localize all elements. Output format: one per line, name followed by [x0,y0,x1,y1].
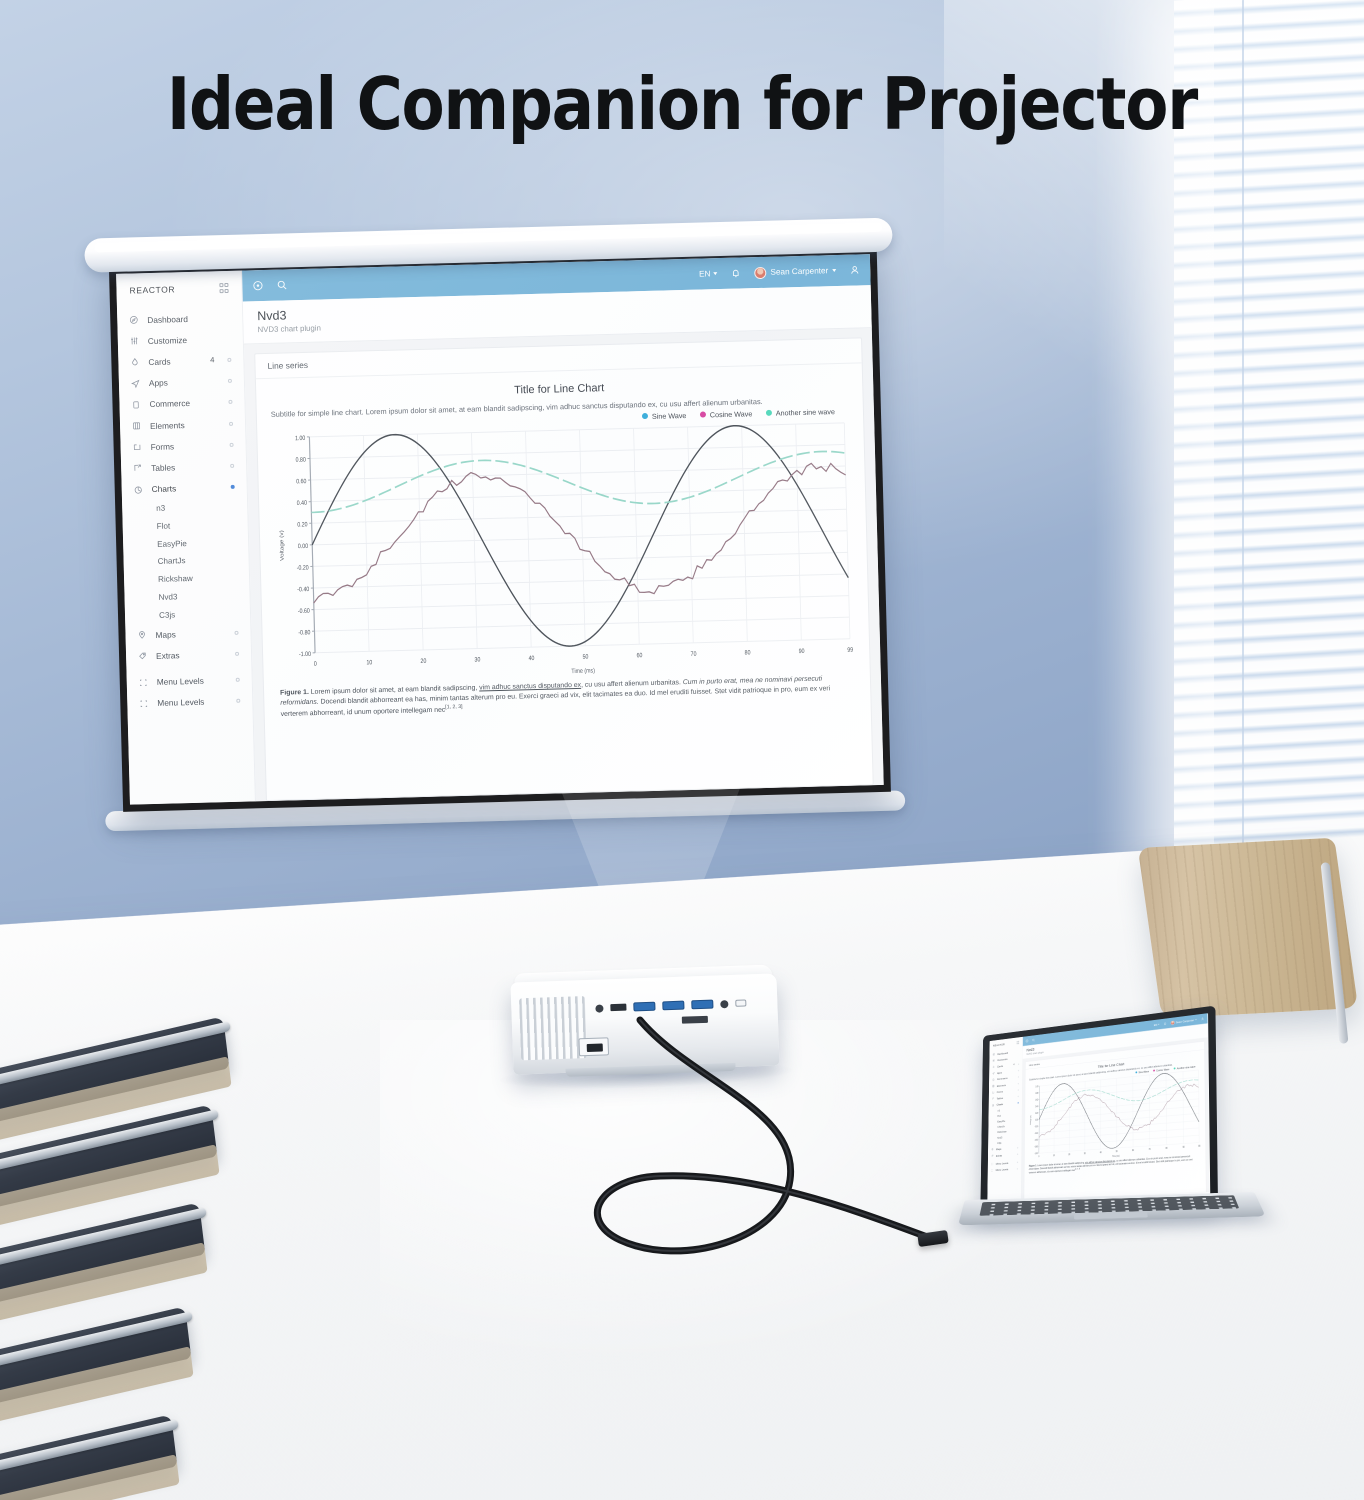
sidebar-subitem-label: Rickshaw [997,1130,1006,1133]
svg-text:0.00: 0.00 [1035,1119,1038,1121]
projection-screen: REACTOR Dashboard Customize Cards [84,218,908,849]
svg-text:-0.20: -0.20 [297,565,310,572]
svg-text:40: 40 [1100,1152,1102,1154]
status-dot [1018,1076,1019,1077]
user-icon[interactable] [1201,1017,1205,1021]
sidebar-item-label: Menu Levels [157,696,227,708]
status-dot [228,379,232,383]
user-menu[interactable]: Sean Carpenter [1171,1018,1197,1025]
legend-item-sine[interactable]: Sine Wave [642,411,686,421]
legend-label: Another sine wave [776,407,835,418]
status-dot [227,358,231,362]
table-icon [992,1097,994,1100]
user-icon[interactable] [849,264,860,275]
status-dot [236,678,240,682]
vga-port [691,1000,713,1010]
line-chart-plot[interactable]: 1.000.800.600.400.200.00-0.20-0.40-0.60-… [271,417,855,684]
sidebar: REACTOR Dashboard Customize Cards [987,1037,1023,1202]
grid-icon[interactable] [1017,1041,1020,1044]
status-dot [235,652,239,656]
status-dot [1017,1154,1018,1155]
sidebar-item-label: Tables [151,461,221,473]
sidebar-item-menu-levels-2[interactable]: Menu Levels [127,690,253,714]
vga-port [662,1001,684,1011]
svg-text:0.60: 0.60 [296,479,307,486]
compass-icon [993,1053,995,1056]
svg-text:10: 10 [1053,1155,1055,1157]
table-icon [133,464,142,473]
sidebar-subitem-label: Rickshaw [158,574,193,584]
sidebar-subitem-label: EasyPie [157,539,187,549]
caption-text-2: , cu usu affert alienum urbanitas. [581,679,683,689]
active-dot [231,485,235,489]
sidebar-item-label: Menu Levels [996,1168,1015,1172]
send-icon [992,1072,994,1075]
svg-text:30: 30 [474,657,481,664]
projector-port-bank [595,998,746,1012]
svg-text:60: 60 [637,653,644,660]
main-column: EN Sean Carpenter [242,254,884,801]
svg-text:0.60: 0.60 [1035,1099,1038,1101]
language-label: EN [699,269,711,278]
svideo-port [720,1000,728,1008]
svg-text:50: 50 [582,654,589,661]
reactor-dashboard: REACTOR Dashboard Customize Cards [116,254,884,805]
svg-text:90: 90 [799,649,806,656]
projector-body [510,973,779,1074]
svg-text:80: 80 [745,650,752,657]
sidebar-subitem-label: Nvd3 [997,1136,1002,1139]
topbar-left [252,279,287,291]
user-name: Sean Carpenter [1176,1019,1194,1024]
chevron-down-icon [832,269,836,272]
tag-icon [991,1155,993,1158]
dots-frame-icon [991,1169,993,1172]
bag-icon [992,1078,994,1081]
dots-frame-icon [139,699,148,708]
sidebar-subitem-label: Flot [157,521,171,530]
card-body: Title for Line Chart Subtitle for simple… [1024,1050,1205,1178]
sidebar-item-label: Commerce [149,398,219,410]
sidebar-subitem-label: Nvd3 [158,592,177,601]
send-icon [131,379,140,388]
status-dot [230,443,234,447]
sidebar-subitem-label: C3js [159,610,175,619]
vga-port [633,1002,655,1012]
svg-text:-1.00: -1.00 [299,651,312,658]
main-column: EN Sean Carpenter [1021,1013,1210,1200]
form-icon [133,442,142,451]
line-chart-plot[interactable]: 1.000.800.600.400.200.00-0.20-0.40-0.60-… [1028,1068,1201,1163]
grid-squares-icon [132,421,141,430]
audio-port [595,1004,603,1012]
svg-text:Voltage (v): Voltage (v) [1030,1115,1032,1125]
target-icon[interactable] [1026,1039,1029,1043]
topbar-left [1026,1038,1035,1043]
svg-text:-0.40: -0.40 [297,587,310,594]
chevron-down-icon [713,272,717,275]
sidebar-item-menu-levels-2[interactable]: Menu Levels [988,1165,1022,1174]
bell-icon[interactable] [1163,1022,1166,1026]
svg-text:0.40: 0.40 [1035,1106,1038,1108]
svg-text:80: 80 [1166,1148,1168,1150]
status-dot [1018,1064,1019,1065]
search-icon[interactable] [276,279,287,290]
chevron-down-icon [1195,1019,1196,1020]
compass-icon [129,315,138,324]
user-name: Sean Carpenter [770,266,828,277]
pie-chart-icon [134,485,143,494]
cards-badge: 4 [1013,1063,1014,1066]
map-pin-icon [137,630,146,639]
sidebar-subitem-label: C3js [997,1142,1001,1145]
reactor-dashboard: REACTOR Dashboard Customize Cards [987,1013,1209,1201]
caption-underlined: vim adhuc sanctus disputando ex [479,682,581,692]
search-icon[interactable] [1032,1038,1035,1042]
sidebar-brand-row: REACTOR [116,280,242,310]
status-dot [1018,1083,1019,1084]
status-dot [1017,1147,1018,1148]
sidebar-item-label: Customize [148,334,231,346]
caption-references: [1, 2, 3] [445,704,462,710]
caption-label: Figure 1. [280,689,309,697]
legend-label: Sine Wave [652,411,687,421]
svg-text:90: 90 [1183,1147,1185,1149]
svg-text:-0.60: -0.60 [1035,1140,1038,1142]
status-dot [1018,1089,1019,1090]
legend-item-another-sine[interactable]: Another sine wave [766,407,835,418]
droplet-icon [130,358,139,367]
svg-text:70: 70 [1149,1149,1151,1151]
svg-text:Voltage (v): Voltage (v) [279,530,285,561]
laptop-screen: REACTOR Dashboard Customize Cards [987,1013,1210,1205]
sidebar-subitem-label: n3 [156,504,165,513]
poster-scene: Ideal Companion for Projector REACTOR Da… [0,0,1364,1500]
target-icon[interactable] [252,280,263,291]
svg-text:0.00: 0.00 [298,544,309,551]
sidebar-item-label: Charts [152,482,222,494]
svg-text:0.80: 0.80 [296,457,307,464]
legend-label: Cosine Wave [710,409,753,419]
card-body: Title for Line Chart Subtitle for simple… [256,363,871,729]
sidebar: REACTOR Dashboard Customize Cards [116,271,256,805]
sidebar-item-label: Cards [148,356,201,367]
svg-text:Time (ms): Time (ms) [571,668,595,675]
status-dot [230,464,234,468]
svg-text:10: 10 [366,660,373,667]
sidebar-subitem-label: n3 [998,1109,1000,1112]
avatar [1171,1021,1175,1025]
svg-text:0.20: 0.20 [1035,1113,1038,1115]
brand-name: REACTOR [129,284,175,295]
svg-text:-0.80: -0.80 [1034,1146,1037,1148]
sidebar-item-label: Elements [150,419,220,431]
status-dot [1018,1096,1019,1097]
svg-text:50: 50 [1116,1151,1118,1153]
svg-text:60: 60 [1132,1150,1134,1152]
sidebar-subitem-label: ChartJs [158,557,186,567]
usb-port [735,999,746,1006]
sidebar-item-label: Maps [996,1146,1015,1150]
dots-frame-icon [139,678,148,687]
sidebar-item-label: Forms [150,440,220,452]
content-area: Line series Title for Line Chart Subtitl… [244,328,884,801]
trackpad[interactable] [1074,1212,1148,1219]
serial-port [682,1016,708,1024]
svg-text:1.00: 1.00 [1036,1086,1039,1088]
svg-text:0.80: 0.80 [1035,1093,1038,1095]
topbar-right: EN Sean Carpenter [699,264,860,280]
content-area: Line series Title for Line Chart Subtitl… [1021,1038,1210,1201]
laptop-screen-content: REACTOR Dashboard Customize Cards [987,1013,1209,1201]
svg-text:40: 40 [528,656,535,663]
language-selector[interactable]: EN [1154,1023,1160,1027]
sidebar-item-label: Apps [149,376,219,388]
svg-text:0.20: 0.20 [297,522,308,529]
sidebar-item-label: Dashboard [147,312,230,324]
svg-text:-0.80: -0.80 [298,630,311,637]
legend-color-swatch [642,413,648,419]
projector [510,973,779,1074]
chart-card: Line series Title for Line Chart Subtitl… [254,337,874,801]
svg-text:-0.40: -0.40 [1035,1133,1038,1135]
droplet-icon [992,1066,994,1069]
office-chair [0,1306,191,1425]
sidebar-subitem-label: EasyPie [997,1119,1005,1122]
legend-color-swatch [766,410,772,416]
svg-text:99: 99 [847,647,853,654]
svg-text:30: 30 [1084,1153,1086,1155]
svg-text:20: 20 [1068,1154,1070,1156]
tag-icon [138,652,147,661]
sidebar-subitem-label: ChartJs [997,1125,1004,1128]
sidebar-item-label: Menu Levels [157,675,227,687]
svg-text:20: 20 [420,658,427,665]
dots-frame-icon [991,1163,993,1166]
status-dot [234,631,238,635]
power-inlet [578,1037,609,1056]
sidebar-subitem-label: Flot [997,1114,1001,1117]
sliders-icon [992,1059,994,1062]
map-pin-icon [991,1148,993,1151]
laptop-lid: REACTOR Dashboard Customize Cards [980,1006,1218,1214]
svg-text:1.00: 1.00 [295,436,306,443]
status-dot [1018,1070,1019,1071]
svg-text:99: 99 [1198,1146,1200,1148]
chevron-down-icon [1158,1024,1159,1025]
sidebar-item-label: Maps [155,628,225,640]
language-selector[interactable]: EN [699,269,718,278]
status-dot [228,400,232,404]
active-dot [1018,1102,1019,1103]
grid-icon[interactable] [219,283,229,293]
legend-color-swatch [700,412,706,418]
cards-badge: 4 [210,356,214,365]
brand-name: REACTOR [993,1043,1005,1047]
status-dot [236,699,240,703]
form-icon [992,1091,994,1094]
status-dot [1017,1162,1018,1163]
user-menu[interactable]: Sean Carpenter [754,265,836,279]
svg-text:70: 70 [691,651,698,658]
legend-item-cosine[interactable]: Cosine Wave [700,409,752,419]
svg-text:-1.00: -1.00 [1034,1153,1037,1155]
svg-text:-0.20: -0.20 [1035,1126,1038,1128]
hdmi-port [610,1004,626,1012]
grid-squares-icon [992,1085,994,1088]
sliders-icon [130,337,139,346]
bag-icon [131,400,140,409]
office-chair [0,1202,205,1321]
chairs-group-left [0,1040,390,1500]
svg-text:-0.60: -0.60 [298,608,311,615]
laptop: REACTOR Dashboard Customize Cards [930,1000,1230,1250]
page-title: Ideal Companion for Projector [20,62,1343,146]
avatar [754,266,766,278]
projector-vent [519,996,587,1060]
pie-chart-icon [992,1104,994,1107]
sidebar-item-label: Extras [156,649,226,661]
office-chair [0,1414,177,1500]
sidebar-item-label: Extras [996,1153,1015,1157]
sidebar-item-extras[interactable]: Extras [126,643,252,667]
svg-text:0.40: 0.40 [297,500,308,507]
status-dot [229,421,233,425]
chart-card: Line series Title for Line Chart Subtitl… [1024,1041,1206,1200]
bell-icon[interactable] [730,267,741,278]
status-dot [1017,1168,1018,1169]
caption-references: [1, 2, 3] [1075,1168,1080,1170]
screen-frame: REACTOR Dashboard Customize Cards [109,242,891,812]
language-label: EN [1154,1023,1158,1026]
svg-text:0: 0 [1038,1156,1039,1158]
sidebar-item-label: Menu Levels [996,1161,1015,1165]
svg-text:0: 0 [314,661,318,668]
